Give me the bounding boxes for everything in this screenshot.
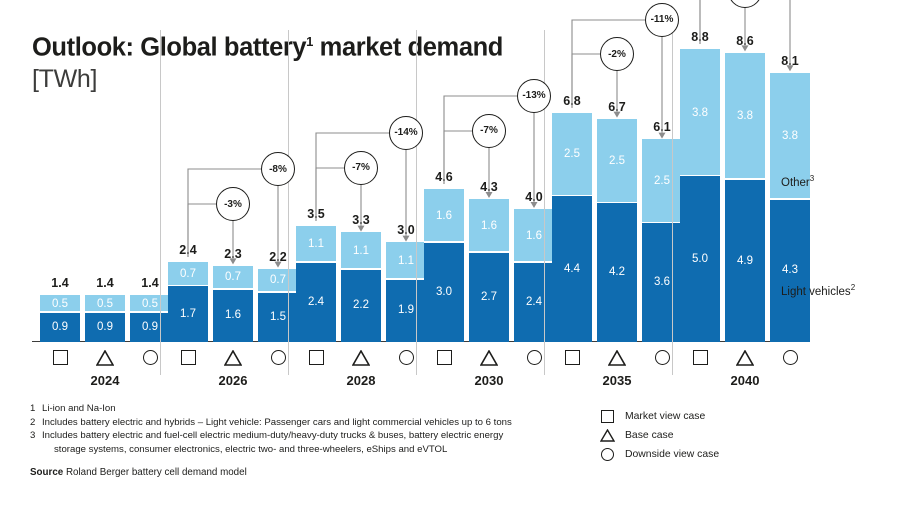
source-line: Source Roland Berger battery cell demand… (30, 467, 600, 478)
legend-icon (600, 448, 615, 461)
case-marker-circle[interactable] (514, 350, 554, 370)
segment-light-vehicles[interactable]: 3.6 (642, 222, 682, 342)
case-marker-square[interactable] (680, 350, 720, 370)
legend-icon (600, 429, 615, 442)
footnote-text: Li-ion and Na-Ion (42, 402, 116, 416)
circle-icon (271, 350, 286, 365)
stacked-bar[interactable]: 0.90.5 (130, 295, 170, 342)
segment-light-vehicles[interactable]: 1.6 (213, 289, 253, 342)
series-label-other-sup: 3 (810, 174, 814, 183)
stacked-bar[interactable]: 2.71.6 (469, 199, 509, 342)
case-marker-triangle[interactable] (213, 350, 253, 370)
series-label-light-vehicles: Light vehicles2 (781, 283, 855, 298)
year-label-2028: 2028 (291, 373, 431, 388)
segment-divider (296, 261, 336, 263)
case-marker-square[interactable] (168, 350, 208, 370)
segment-light-vehicles[interactable]: 1.7 (168, 285, 208, 342)
case-marker-circle[interactable] (770, 350, 810, 370)
legend-item[interactable]: Base case (600, 427, 719, 444)
year-label-2040: 2040 (675, 373, 815, 388)
case-marker-circle[interactable] (642, 350, 682, 370)
segment-divider (258, 291, 298, 293)
series-label-other: Other3 (781, 174, 814, 189)
case-marker-square[interactable] (296, 350, 336, 370)
triangle-icon (608, 350, 626, 365)
circle-icon (601, 448, 614, 461)
case-marker-square[interactable] (424, 350, 464, 370)
bar-2024-triangle[interactable]: 0.90.51.4 (85, 31, 125, 342)
stacked-bar[interactable]: 1.91.1 (386, 242, 426, 342)
footnote-1: 1Li-ion and Na-Ion (30, 402, 600, 416)
segment-light-vehicles[interactable]: 5.0 (680, 176, 720, 342)
square-icon (437, 350, 452, 365)
segment-divider (40, 311, 80, 313)
footnote-2: 2Includes battery electric and hybrids –… (30, 416, 600, 430)
footnote-text: Includes battery electric and hybrids – … (42, 416, 512, 430)
stacked-bar[interactable]: 0.90.5 (40, 295, 80, 342)
segment-divider (386, 278, 426, 280)
footnote-number: 3 (30, 429, 37, 443)
segment-divider (597, 202, 637, 204)
segment-divider (85, 311, 125, 313)
segment-divider (341, 268, 381, 270)
segment-divider (130, 311, 170, 313)
square-icon (565, 350, 580, 365)
segment-other[interactable]: 0.5 (40, 295, 80, 312)
segment-light-vehicles[interactable]: 1.5 (258, 292, 298, 342)
footnotes-block: 1Li-ion and Na-Ion2Includes battery elec… (30, 402, 600, 478)
case-marker-circle[interactable] (386, 350, 426, 370)
stacked-bar[interactable]: 5.03.8 (680, 49, 720, 342)
case-marker-circle[interactable] (258, 350, 298, 370)
triangle-icon (96, 350, 114, 365)
segment-divider (213, 288, 253, 290)
bar-2024-circle[interactable]: 0.90.51.4 (130, 31, 170, 342)
circle-icon (399, 350, 414, 365)
footnote-text: storage systems, consumer electronics, e… (54, 443, 447, 457)
circle-icon (527, 350, 542, 365)
triangle-icon (600, 429, 615, 442)
legend-item[interactable]: Market view case (600, 408, 719, 425)
segment-divider (424, 241, 464, 243)
year-label-2024: 2024 (35, 373, 175, 388)
case-marker-triangle[interactable] (85, 350, 125, 370)
bar-2024-square[interactable]: 0.90.51.4 (40, 31, 80, 342)
footnote-3: 3Includes battery electric and fuel-cell… (30, 429, 600, 443)
case-marker-triangle[interactable] (597, 350, 637, 370)
circle-icon (143, 350, 158, 365)
stacked-bar[interactable]: 4.22.5 (597, 119, 637, 342)
delta-callout-2030-circle[interactable]: -13% (517, 79, 551, 113)
segment-light-vehicles[interactable]: 0.9 (40, 312, 80, 342)
segment-light-vehicles[interactable]: 0.9 (85, 312, 125, 342)
chart-plot-area: 0.90.51.40.90.51.40.90.51.41.70.72.41.60… (32, 30, 772, 342)
group-separator (160, 30, 161, 375)
segment-other[interactable]: 0.5 (85, 295, 125, 312)
year-label-2030: 2030 (419, 373, 559, 388)
case-marker-triangle[interactable] (469, 350, 509, 370)
case-marker-circle[interactable] (130, 350, 170, 370)
stacked-bar[interactable]: 2.41.6 (514, 209, 554, 342)
legend-label: Base case (625, 430, 674, 441)
delta-callout-2028-circle[interactable]: -14% (389, 116, 423, 150)
segment-divider (469, 251, 509, 253)
square-icon (309, 350, 324, 365)
chart-legend: Market view caseBase caseDownside view c… (600, 408, 719, 465)
triangle-icon (480, 350, 498, 365)
series-label-other-text: Other (781, 177, 810, 189)
footnote-number: 2 (30, 416, 37, 430)
legend-label: Downside view case (625, 449, 719, 460)
case-marker-triangle[interactable] (725, 350, 765, 370)
bar-group-2024: 0.90.51.40.90.51.40.90.51.4 (40, 31, 170, 342)
segment-light-vehicles[interactable]: 2.4 (296, 262, 336, 342)
case-marker-square[interactable] (40, 350, 80, 370)
segment-light-vehicles[interactable]: 1.9 (386, 279, 426, 342)
delta-callout-2026-triangle[interactable]: -3% (216, 187, 250, 221)
square-icon (53, 350, 68, 365)
segment-light-vehicles[interactable]: 4.2 (597, 202, 637, 342)
year-label-2035: 2035 (547, 373, 687, 388)
square-icon (601, 410, 614, 423)
footnote-number: 1 (30, 402, 37, 416)
segment-light-vehicles[interactable]: 3.0 (424, 242, 464, 342)
segment-other[interactable]: 2.5 (642, 139, 682, 222)
segment-divider (770, 198, 810, 200)
segment-light-vehicles[interactable]: 2.7 (469, 252, 509, 342)
segment-light-vehicles[interactable]: 4.4 (552, 196, 592, 342)
square-icon (693, 350, 708, 365)
callout-connector (688, 0, 802, 82)
circle-icon (783, 350, 798, 365)
source-text: Roland Berger battery cell demand model (66, 467, 247, 478)
segment-light-vehicles[interactable]: 4.3 (770, 199, 810, 342)
segment-divider (168, 285, 208, 287)
delta-callout-2030-triangle[interactable]: -7% (472, 114, 506, 148)
case-marker-square[interactable] (552, 350, 592, 370)
delta-callout-2026-circle[interactable]: -8% (261, 152, 295, 186)
series-label-light-vehicles-text: Light vehicles (781, 286, 851, 298)
segment-divider (552, 195, 592, 197)
segment-divider (514, 261, 554, 263)
year-label-2026: 2026 (163, 373, 303, 388)
chart-page: Outlook: Global battery1 market demand [… (0, 0, 900, 507)
circle-icon (655, 350, 670, 365)
legend-item[interactable]: Downside view case (600, 446, 719, 463)
stacked-bar[interactable]: 4.93.8 (725, 53, 765, 342)
footnote-cont: storage systems, consumer electronics, e… (30, 443, 600, 457)
stacked-bar[interactable]: 4.33.8 (770, 73, 810, 342)
segment-light-vehicles[interactable]: 2.2 (341, 269, 381, 342)
triangle-icon (224, 350, 242, 365)
segment-light-vehicles[interactable]: 2.4 (514, 262, 554, 342)
segment-other[interactable]: 0.5 (130, 295, 170, 312)
delta-callout-2035-circle[interactable]: -11% (645, 3, 679, 37)
segment-divider (680, 175, 720, 177)
footnote-number (42, 443, 49, 457)
delta-callout-2028-triangle[interactable]: -7% (344, 151, 378, 185)
segment-light-vehicles[interactable]: 4.9 (725, 179, 765, 342)
segment-divider (642, 222, 682, 224)
legend-label: Market view case (625, 411, 705, 422)
stacked-bar[interactable]: 0.90.5 (85, 295, 125, 342)
footnote-text: Includes battery electric and fuel-cell … (42, 429, 503, 443)
stacked-bar[interactable]: 3.62.5 (642, 139, 682, 342)
segment-light-vehicles[interactable]: 0.9 (130, 312, 170, 342)
segment-divider (725, 178, 765, 180)
triangle-icon (736, 350, 754, 365)
case-marker-triangle[interactable] (341, 350, 381, 370)
square-icon (181, 350, 196, 365)
legend-icon (600, 410, 615, 423)
source-label: Source (30, 467, 63, 478)
stacked-bar[interactable]: 1.50.7 (258, 269, 298, 342)
series-label-light-vehicles-sup: 2 (851, 283, 855, 292)
triangle-icon (352, 350, 370, 365)
